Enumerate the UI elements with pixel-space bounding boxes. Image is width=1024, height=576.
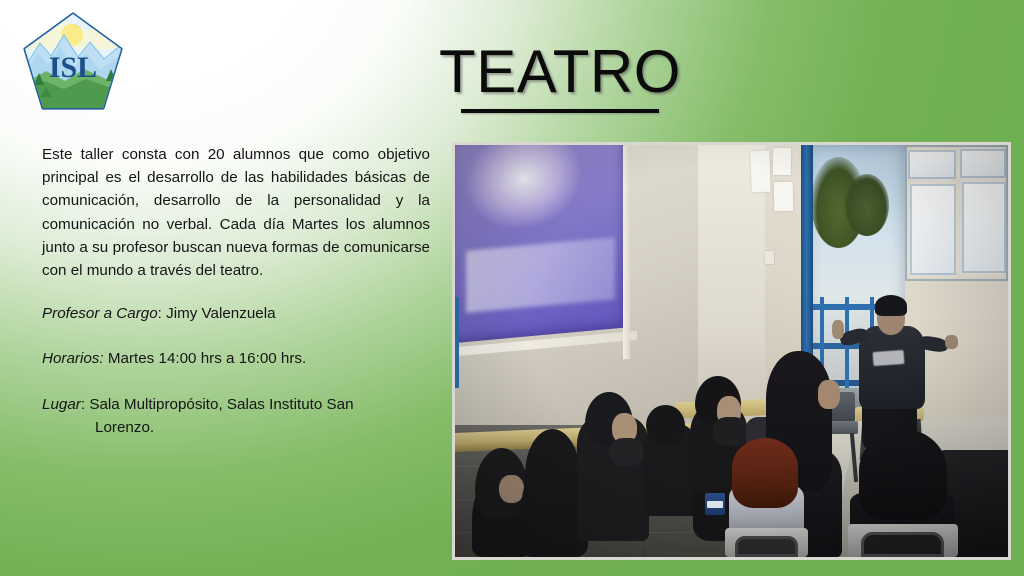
title-underline — [461, 109, 659, 113]
student-4-hair — [646, 405, 685, 446]
detail-profesor: Profesor a Cargo: Jimy Valenzuela — [42, 302, 430, 325]
slide-canvas: ISL TEATRO Este taller consta con 20 alu… — [0, 0, 1024, 576]
workshop-photo — [452, 142, 1011, 560]
detail-lugar: Lugar: Sala Multipropósito, Salas Instit… — [42, 393, 430, 439]
teacher-hand-right — [945, 335, 958, 349]
detail-profesor-separator: : — [158, 305, 166, 322]
drink-cup-label — [707, 501, 722, 508]
page-title: TEATRO — [410, 41, 710, 113]
projector-screen-post — [623, 145, 630, 360]
participant-mid-arm — [818, 380, 840, 409]
foreground-right-chair-frame — [861, 532, 944, 557]
teacher-body — [859, 326, 925, 408]
wall-paper-1 — [750, 151, 770, 193]
isl-logo: ISL — [20, 9, 126, 117]
foreground-right-hair — [859, 429, 947, 520]
workshop-photo-image — [455, 145, 1008, 557]
wall-paper-3 — [773, 182, 792, 211]
railing-post-4 — [455, 297, 459, 388]
student-5-arm — [713, 417, 748, 446]
detail-horarios-label: Horarios: — [42, 350, 104, 367]
foreground-left-hair — [732, 438, 798, 508]
isl-logo-graphic: ISL — [20, 9, 126, 117]
page-title-text: TEATRO — [436, 41, 684, 103]
teacher-hoodie-print — [873, 350, 905, 366]
teacher-hair — [875, 295, 907, 316]
teacher-hand-left — [832, 320, 844, 339]
window-frame — [905, 145, 1008, 281]
student-3-arm — [610, 438, 643, 467]
detail-profesor-value: Jimy Valenzuela — [166, 305, 275, 322]
workshop-description: Este taller consta con 20 alumnos que co… — [42, 143, 430, 282]
description-column: Este taller consta con 20 alumnos que co… — [42, 143, 430, 439]
detail-profesor-label: Profesor a Cargo — [42, 305, 158, 322]
foreground-left-chair-frame — [735, 536, 798, 557]
detail-horarios-value: Martes 14:00 hrs a 16:00 hrs. — [108, 350, 306, 367]
isl-logo-letters: ISL — [49, 51, 97, 84]
light-switch — [765, 251, 773, 264]
wall-paper-2 — [773, 148, 791, 175]
tree-2 — [845, 174, 889, 236]
detail-lugar-value-line2: Lorenzo. — [42, 416, 430, 439]
detail-lugar-label: Lugar — [42, 396, 81, 413]
detail-lugar-value: Sala Multipropósito, Salas Instituto San — [89, 396, 353, 413]
student-1-face — [499, 475, 523, 504]
detail-horarios: Horarios: Martes 14:00 hrs a 16:00 hrs. — [42, 347, 430, 370]
